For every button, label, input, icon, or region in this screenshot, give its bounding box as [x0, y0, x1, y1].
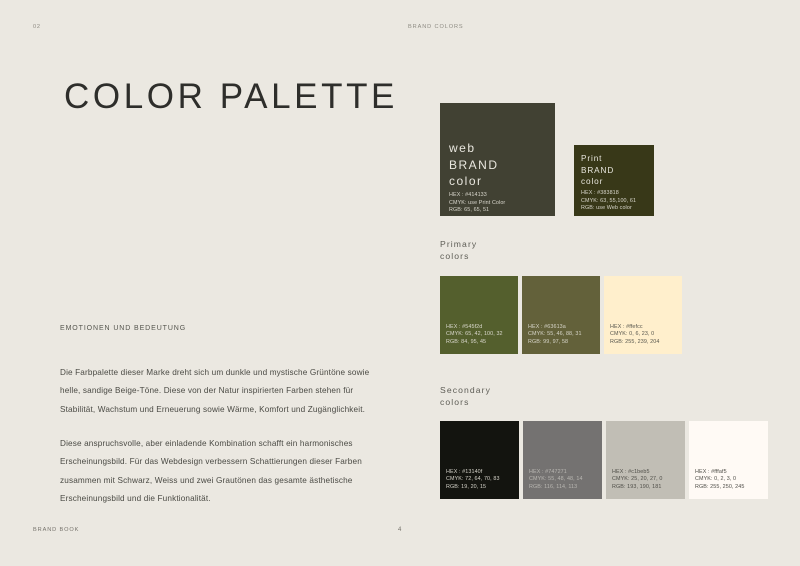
secondary-swatch-2-meta: HEX : #747271 CMYK: 55, 48, 48, 14 RGB: … [529, 469, 583, 492]
swatch-web-title: web BRAND color [449, 140, 499, 190]
primary-colors-grid: HEX : #545f2d CMYK: 65, 42, 100, 32 RGB:… [440, 276, 682, 354]
page-title: COLOR PALETTE [64, 78, 398, 116]
secondary-swatch-4: HEX : #fffaf5 CMYK: 0, 2, 3, 0 RGB: 255,… [689, 421, 768, 499]
secondary-colors-label: Secondary colors [440, 385, 491, 408]
primary-swatch-2: HEX : #63613a CMYK: 55, 46, 88, 31 RGB: … [522, 276, 600, 354]
secondary-swatch-4-meta: HEX : #fffaf5 CMYK: 0, 2, 3, 0 RGB: 255,… [695, 469, 744, 492]
swatch-print-brand-color: Print BRAND color HEX : #383818 CMYK: 63… [574, 145, 654, 216]
primary-swatch-1: HEX : #545f2d CMYK: 65, 42, 100, 32 RGB:… [440, 276, 518, 354]
primary-colors-label: Primary colors [440, 239, 477, 262]
content-kicker: EMOTIONEN UND BEDEUTUNG [60, 325, 186, 332]
page-header: 02 BRAND COLORS [33, 24, 767, 36]
primary-swatch-1-meta: HEX : #545f2d CMYK: 65, 42, 100, 32 RGB:… [446, 324, 503, 347]
brand-color-block: web BRAND color HEX : #414133 CMYK: use … [440, 103, 777, 216]
secondary-swatch-3-meta: HEX : #c1beb5 CMYK: 25, 20, 27, 0 RGB: 1… [612, 469, 662, 492]
header-section-title: BRAND COLORS [408, 24, 464, 30]
swatch-web-brand-color: web BRAND color HEX : #414133 CMYK: use … [440, 103, 555, 216]
footer-doc-name: BRAND BOOK [33, 527, 79, 533]
body-paragraph-2: Diese anspruchsvolle, aber einladende Ko… [60, 435, 378, 509]
secondary-swatch-1: HEX : #13140f CMYK: 72, 64, 70, 83 RGB: … [440, 421, 519, 499]
secondary-swatch-2: HEX : #747271 CMYK: 55, 48, 48, 14 RGB: … [523, 421, 602, 499]
secondary-swatch-3: HEX : #c1beb5 CMYK: 25, 20, 27, 0 RGB: 1… [606, 421, 685, 499]
swatch-web-meta: HEX : #414133 CMYK: use Print Color RGB:… [449, 192, 505, 215]
secondary-colors-grid: HEX : #13140f CMYK: 72, 64, 70, 83 RGB: … [440, 421, 768, 499]
header-section-number: 02 [33, 24, 41, 30]
page-footer: BRAND BOOK 4 [33, 527, 767, 539]
primary-swatch-3: HEX : #ffefcc CMYK: 0, 6, 23, 0 RGB: 255… [604, 276, 682, 354]
secondary-swatch-1-meta: HEX : #13140f CMYK: 72, 64, 70, 83 RGB: … [446, 469, 500, 492]
primary-swatch-3-meta: HEX : #ffefcc CMYK: 0, 6, 23, 0 RGB: 255… [610, 324, 659, 347]
swatch-print-meta: HEX : #383818 CMYK: 63, 55,100, 61 RGB: … [581, 190, 636, 213]
primary-swatch-2-meta: HEX : #63613a CMYK: 55, 46, 88, 31 RGB: … [528, 324, 582, 347]
body-paragraph-1: Die Farbpalette dieser Marke dreht sich … [60, 364, 378, 419]
footer-page-number: 4 [398, 527, 401, 533]
swatch-print-title: Print BRAND color [581, 153, 614, 188]
brand-book-page: 02 BRAND COLORS COLOR PALETTE EMOTIONEN … [0, 0, 800, 566]
